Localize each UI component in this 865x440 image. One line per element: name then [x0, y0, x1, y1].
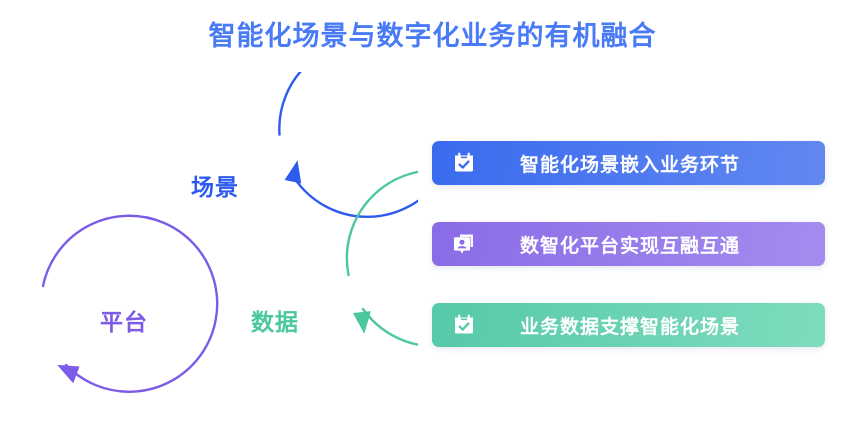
id-card-person-icon — [451, 231, 477, 257]
card-scene-label: 智能化场景嵌入业务环节 — [477, 150, 825, 177]
calendar-check-icon — [451, 150, 477, 176]
venn-cycle-diagram: 场景 平台 数据 — [18, 72, 418, 432]
card-data-label: 业务数据支撑智能化场景 — [477, 312, 825, 339]
card-list: 智能化场景嵌入业务环节 数智化平台实现互融互通 — [432, 141, 825, 347]
scene-arc — [279, 72, 418, 217]
scene-arrowhead — [285, 158, 306, 183]
card-scene[interactable]: 智能化场景嵌入业务环节 — [432, 141, 825, 185]
circle-data — [347, 170, 418, 346]
venn-svg — [18, 72, 418, 432]
data-arrowhead — [353, 311, 373, 335]
venn-label-platform: 平台 — [100, 303, 148, 337]
venn-label-data: 数据 — [251, 303, 299, 337]
circle-scene — [279, 72, 418, 217]
card-platform[interactable]: 数智化平台实现互融互通 — [432, 222, 825, 266]
card-data[interactable]: 业务数据支撑智能化场景 — [432, 303, 825, 347]
calendar-check-icon — [451, 312, 477, 338]
card-platform-label: 数智化平台实现互融互通 — [477, 231, 825, 258]
slide-canvas: 智能化场景与数字化业务的有机融合 场景 平台 数据 — [0, 0, 865, 440]
venn-label-scene: 场景 — [191, 168, 239, 202]
page-title: 智能化场景与数字化业务的有机融合 — [0, 14, 865, 53]
